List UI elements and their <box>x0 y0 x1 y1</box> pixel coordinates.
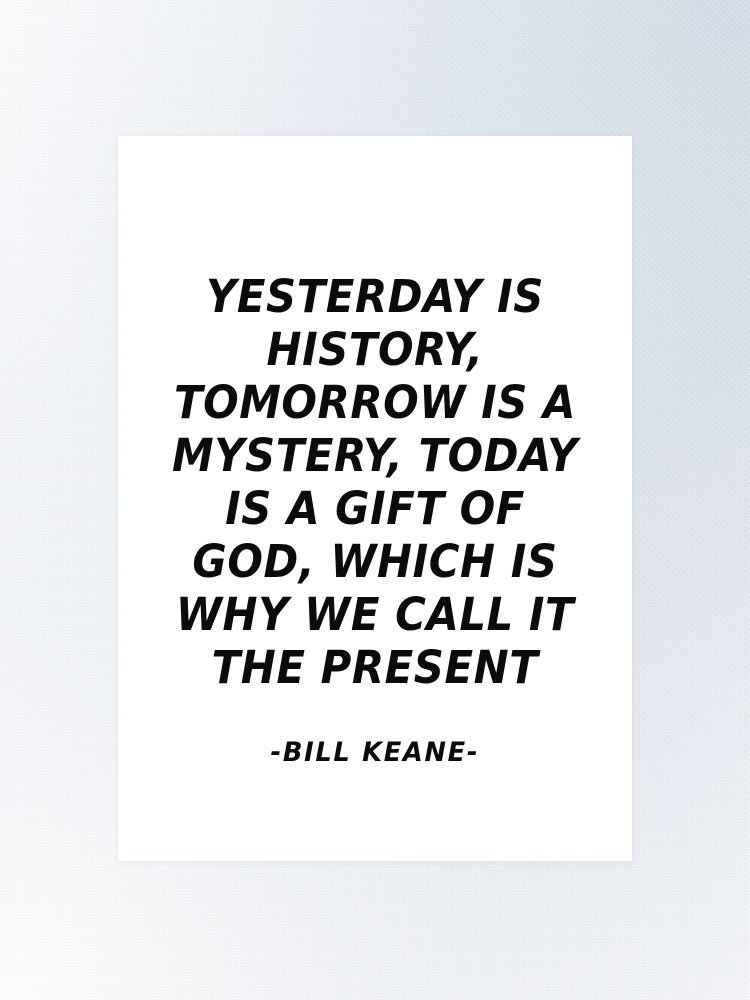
attribution-block: -BILL KEANE- <box>118 737 632 769</box>
quote-line-5: IS A GIFT OF <box>142 482 609 535</box>
quote-attribution: -BILL KEANE- <box>271 737 480 769</box>
quote-line-3: TOMORROW IS A <box>142 376 609 429</box>
poster-scene: YESTERDAY IS HISTORY, TOMORROW IS A MYST… <box>0 0 750 1000</box>
quote-poster: YESTERDAY IS HISTORY, TOMORROW IS A MYST… <box>118 136 632 861</box>
quote-line-8: THE PRESENT <box>142 641 609 694</box>
quote-line-2: HISTORY, <box>142 323 609 376</box>
quote-line-1: YESTERDAY IS <box>142 270 609 323</box>
quote-line-4: MYSTERY, TODAY <box>142 429 609 482</box>
quote-text-block: YESTERDAY IS HISTORY, TOMORROW IS A MYST… <box>118 270 632 694</box>
quote-line-7: WHY WE CALL IT <box>142 588 609 641</box>
quote-line-6: GOD, WHICH IS <box>142 535 609 588</box>
